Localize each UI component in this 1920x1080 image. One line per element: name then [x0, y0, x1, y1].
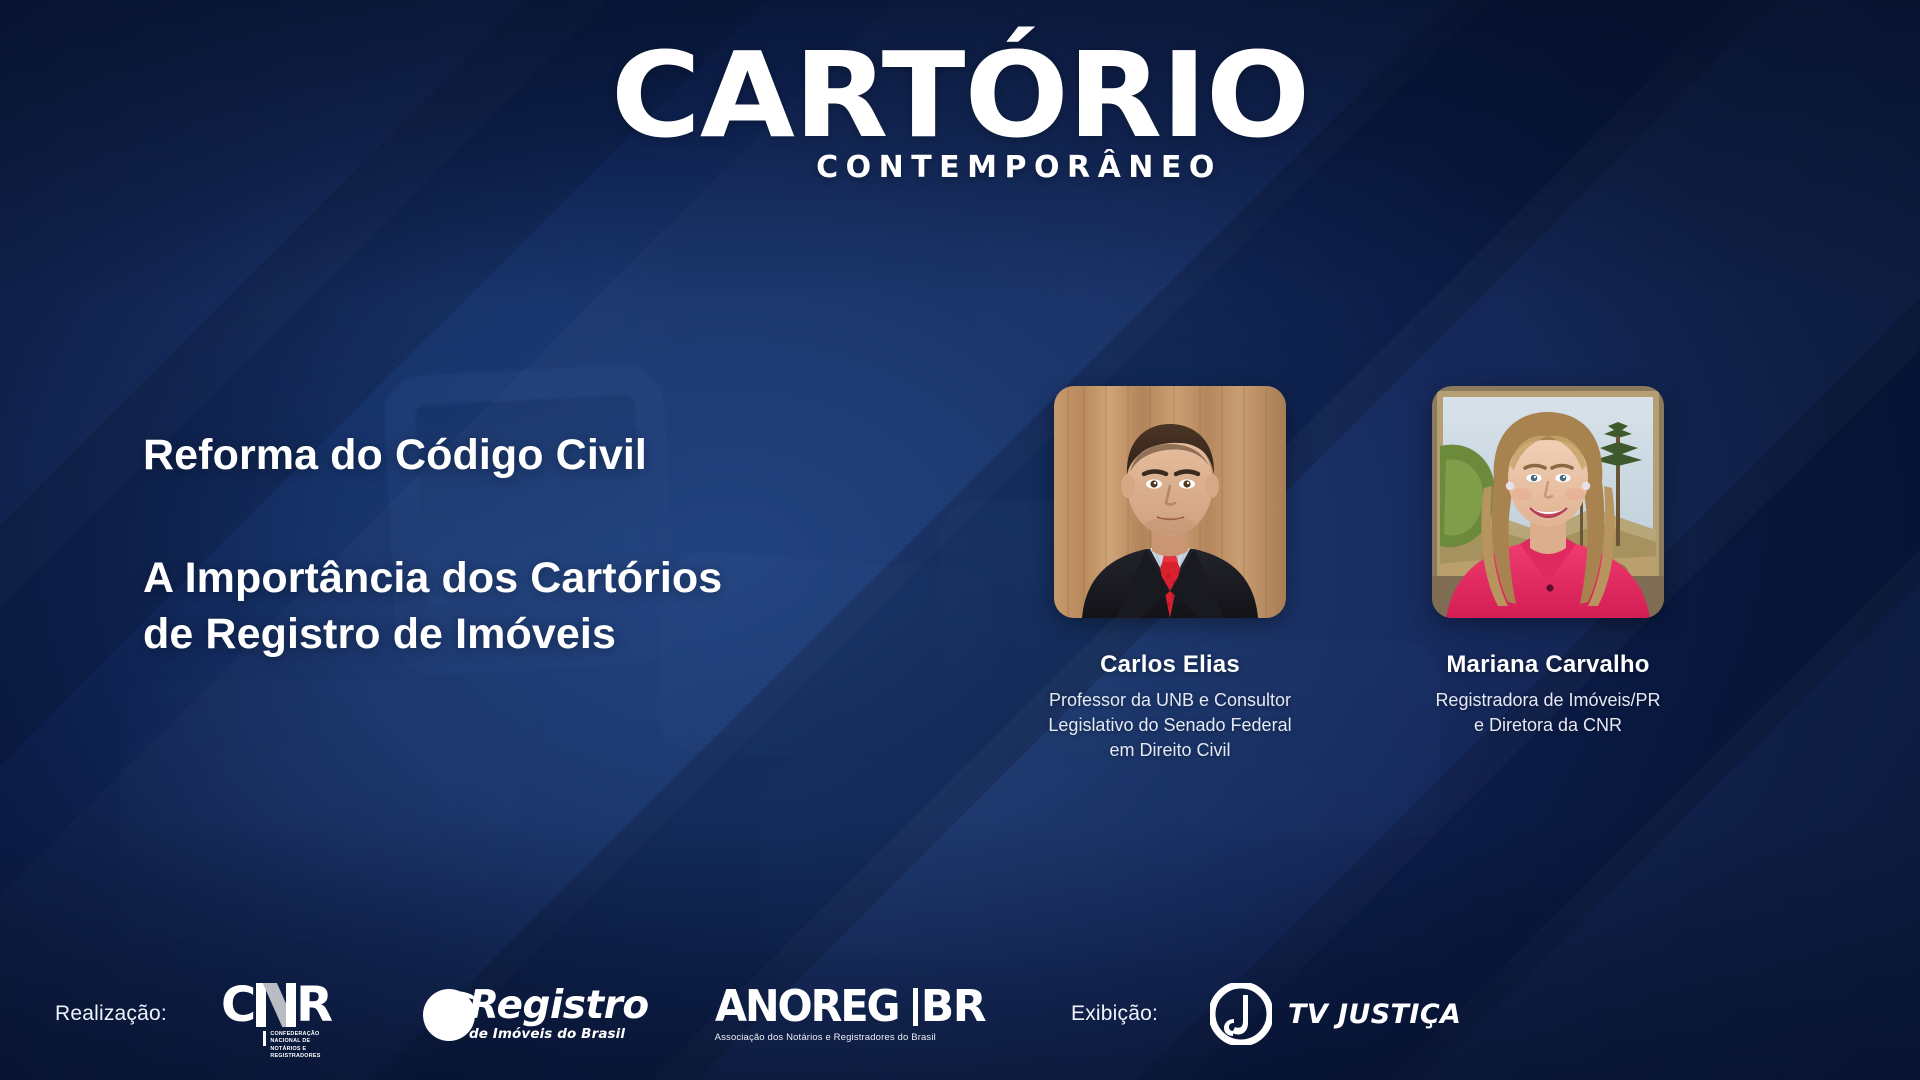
brand-logo: CARTÓRIO CONTEMPORÂNEO — [0, 36, 1920, 185]
speaker-name: Mariana Carvalho — [1446, 651, 1649, 679]
speaker-card-mariana-carvalho: Mariana Carvalho Registradora de Imóveis… — [1398, 386, 1698, 764]
anoreg-word: ANOREG — [715, 985, 898, 1029]
page-title-primary: Reforma do Código Civil — [143, 430, 963, 481]
exibicao-label-wrap: Exibição: — [1071, 1002, 1158, 1026]
page-title-secondary: A Importância dos Cartórios de Registro … — [143, 551, 963, 663]
slide-canvas: CARTÓRIO CONTEMPORÂNEO Reforma do Código… — [0, 0, 1920, 1080]
speaker-card-carlos-elias: Carlos Elias Professor da UNB e Consulto… — [1020, 386, 1320, 764]
title-block: Reforma do Código Civil A Importância do… — [143, 430, 963, 663]
speaker-photo-carlos-elias — [1054, 386, 1286, 618]
tv-justica-j-icon — [1210, 983, 1272, 1045]
cnr-letter-c: C — [221, 983, 256, 1027]
realizacao-label: Realização: — [55, 1002, 167, 1026]
cnr-accent-bar — [263, 1031, 266, 1046]
speaker-name: Carlos Elias — [1100, 651, 1240, 679]
logo-cnr: C R CONFEDERAÇÃO NACIONAL DE NOTÁRIOS E … — [221, 983, 347, 1045]
anoreg-suffix: BR — [921, 985, 985, 1029]
logo-tv-justica: TV JUSTIÇA — [1210, 983, 1461, 1045]
speaker-role: Registradora de Imóveis/PR e Diretora da… — [1435, 688, 1660, 738]
logo-anoreg-br: ANOREG BR Associação dos Notários e Regi… — [715, 985, 985, 1043]
speakers-group: Carlos Elias Professor da UNB e Consulto… — [1020, 386, 1820, 764]
registro-name: Registro — [469, 987, 649, 1025]
registro-circle-icon — [419, 983, 485, 1045]
registro-tagline: de Imóveis do Brasil — [469, 1026, 649, 1042]
anoreg-divider — [913, 988, 918, 1026]
tv-justica-name: TV JUSTIÇA — [1288, 999, 1461, 1030]
anoreg-tagline: Associação dos Notários e Registradores … — [715, 1032, 985, 1043]
cnr-letter-r: R — [296, 983, 333, 1027]
cnr-letter-n — [256, 983, 296, 1027]
logo-registro-imoveis: Registro de Imóveis do Brasil — [419, 983, 649, 1045]
exibicao-label: Exibição: — [1071, 1002, 1158, 1026]
footer-bar: Realização: C R CONFEDERAÇÃO NACIONAL DE… — [0, 948, 1920, 1080]
speaker-role: Professor da UNB e Consultor Legislativo… — [1048, 688, 1291, 764]
brand-logo-main: CARTÓRIO — [0, 36, 1920, 154]
cnr-subtitle: CONFEDERAÇÃO NACIONAL DE NOTÁRIOS E REGI… — [270, 1031, 347, 1061]
speaker-photo-mariana-carvalho — [1432, 386, 1664, 618]
